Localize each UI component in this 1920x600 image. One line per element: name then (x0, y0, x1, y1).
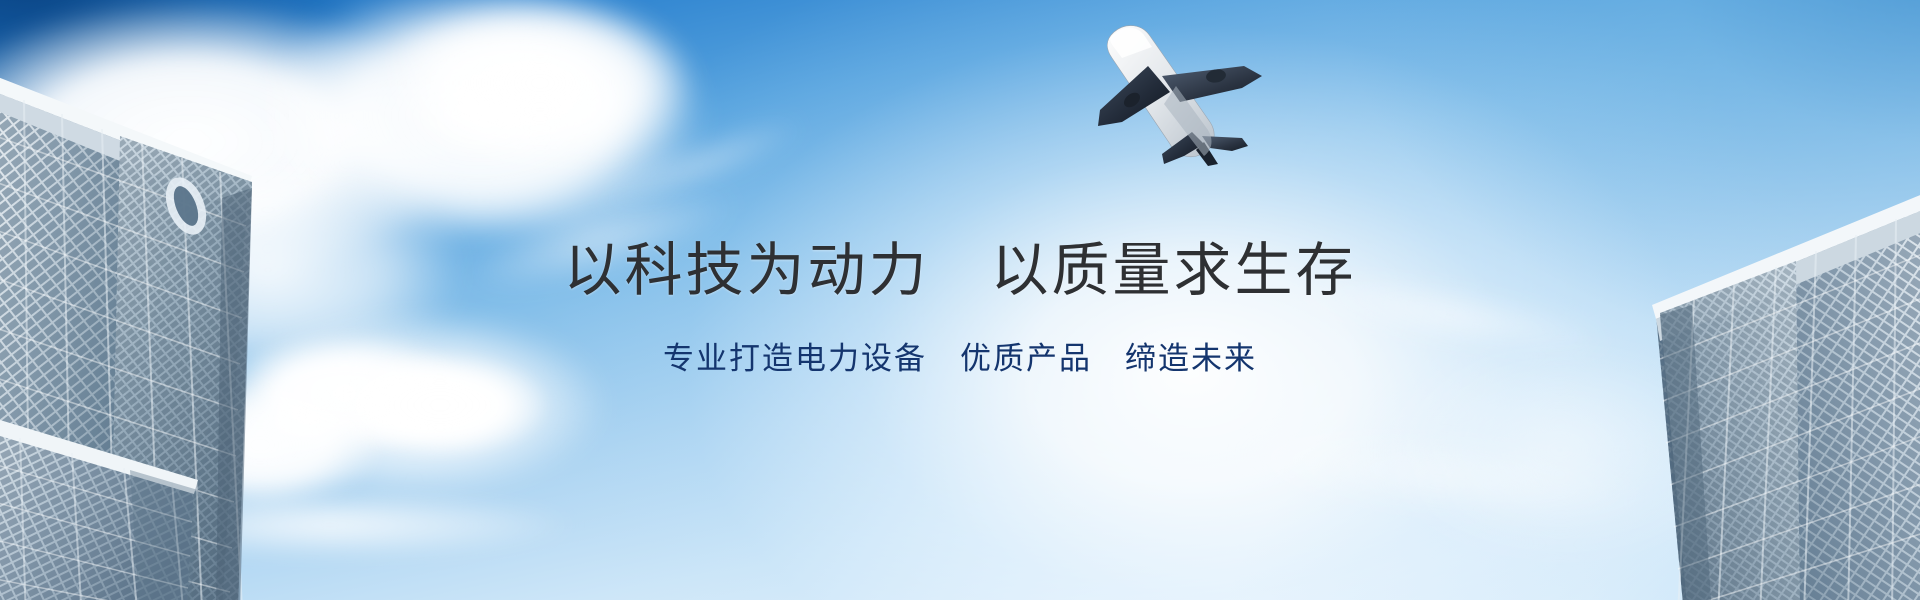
banner-text-block: 以科技为动力 以质量求生存 专业打造电力设备 优质产品 缔造未来 (0, 238, 1920, 378)
airplane-icon (1092, 14, 1282, 174)
banner-subtitle: 专业打造电力设备 优质产品 缔造未来 (0, 341, 1920, 378)
banner-headline: 以科技为动力 以质量求生存 (0, 238, 1920, 303)
hero-banner: 以科技为动力 以质量求生存 专业打造电力设备 优质产品 缔造未来 (0, 0, 1920, 600)
